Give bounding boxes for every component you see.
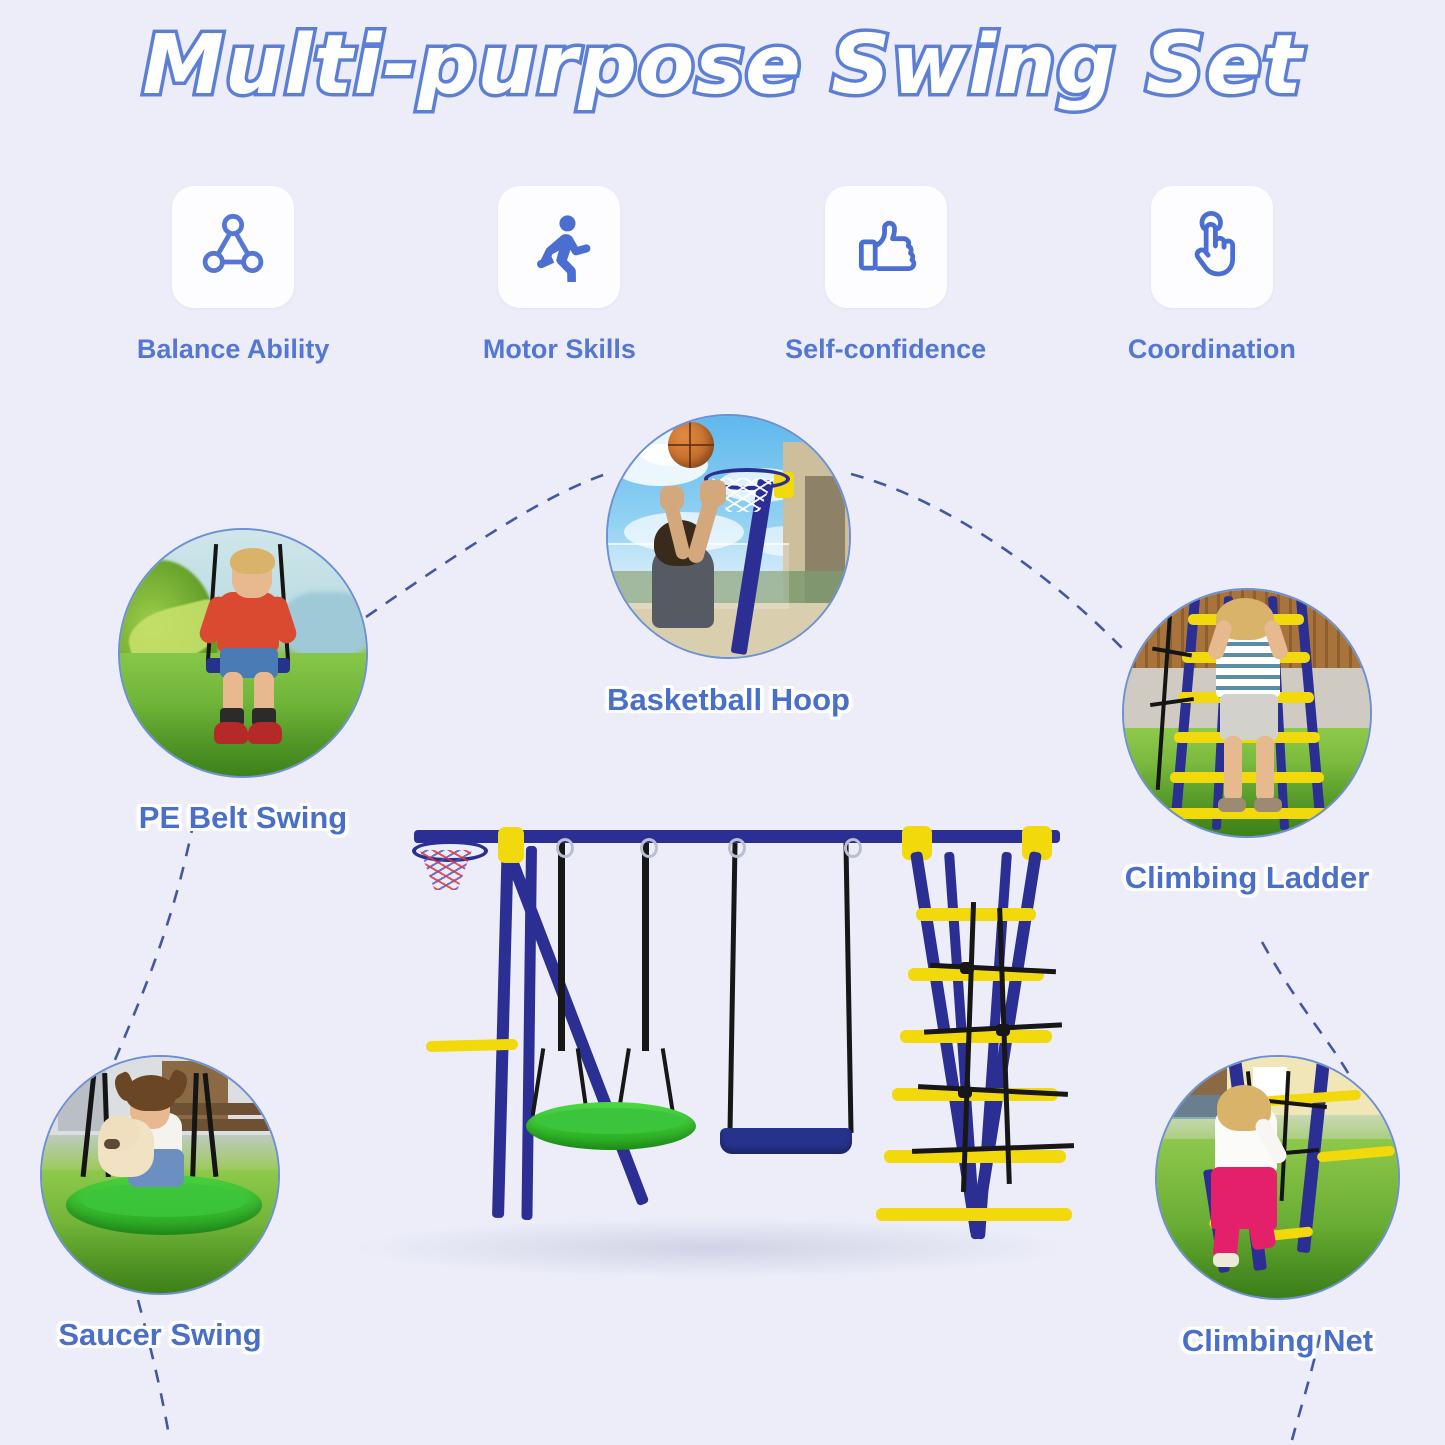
- net-knot: [960, 962, 974, 974]
- callout-image: [118, 528, 368, 778]
- benefit-label: Coordination: [1128, 334, 1296, 365]
- infographic-root: Multi-purpose Swing Set Balance Ability: [0, 0, 1445, 1445]
- saucer-swing-inner: [538, 1108, 684, 1134]
- thumbs-up-icon: [849, 208, 923, 287]
- benefits-row: Balance Ability Motor Skills: [0, 186, 1445, 365]
- callout-label: Climbing Ladder: [1125, 860, 1370, 896]
- beam-ring: [844, 838, 862, 858]
- ladder-rung: [876, 1208, 1072, 1221]
- callout-label: PE Belt Swing: [139, 800, 347, 836]
- tapping-hand-icon: [1175, 208, 1249, 287]
- callout-image: [1122, 588, 1372, 838]
- benefit-icon-card: [1151, 186, 1273, 308]
- scene-boy-climbing-ladder: [1124, 590, 1370, 836]
- saucer-rope-right-v: [617, 1048, 631, 1110]
- left-leg-back: [498, 838, 649, 1206]
- basketball-hoop-net: [420, 850, 472, 890]
- benefit-coordination: Coordination: [1097, 186, 1327, 365]
- left-top-connector: [498, 827, 524, 863]
- callout-label: Saucer Swing: [58, 1317, 261, 1353]
- benefit-label: Motor Skills: [483, 334, 636, 365]
- benefit-icon-card: [172, 186, 294, 308]
- benefit-self-confidence: Self-confidence: [771, 186, 1001, 365]
- page-title: Multi-purpose Swing Set: [0, 18, 1445, 113]
- benefit-motor-skills: Motor Skills: [444, 186, 674, 365]
- running-person-icon: [522, 208, 596, 287]
- ladder-rung: [916, 908, 1036, 921]
- product-swing-set-image: [330, 810, 1100, 1290]
- callout-image: [606, 414, 851, 659]
- callout-basketball-hoop[interactable]: Basketball Hoop: [606, 414, 851, 659]
- saucer-rope-right: [642, 843, 649, 1051]
- belt-rope-right: [843, 843, 853, 1133]
- benefit-icon-card: [498, 186, 620, 308]
- saucer-rope-right-v2: [661, 1048, 676, 1116]
- callout-image: [40, 1055, 280, 1295]
- benefit-icon-card: [825, 186, 947, 308]
- scene-boy-on-belt-swing: [120, 530, 366, 776]
- saucer-rope-left: [558, 843, 565, 1051]
- benefit-label: Self-confidence: [785, 334, 986, 365]
- belt-rope-left: [727, 843, 737, 1133]
- balance-network-icon: [196, 208, 270, 287]
- callout-label: Basketball Hoop: [607, 682, 850, 718]
- callout-label: Climbing Net: [1182, 1323, 1373, 1359]
- callout-saucer-swing[interactable]: Saucer Swing: [40, 1055, 280, 1295]
- callout-pe-belt-swing[interactable]: PE Belt Swing: [118, 528, 368, 778]
- scene-girl-climbing-net: [1157, 1057, 1398, 1298]
- net-knot: [996, 1024, 1010, 1036]
- callout-image: [1155, 1055, 1400, 1300]
- callout-climbing-ladder[interactable]: Climbing Ladder: [1122, 588, 1372, 838]
- benefit-balance-ability: Balance Ability: [118, 186, 348, 365]
- beam-ring: [556, 838, 574, 858]
- net-knot: [958, 1086, 972, 1098]
- belt-swing-seat: [720, 1128, 852, 1154]
- benefit-label: Balance Ability: [137, 334, 330, 365]
- beam-ring: [728, 838, 746, 858]
- left-leg-front: [492, 836, 514, 1218]
- ladder-rung: [900, 1030, 1052, 1043]
- scene-basketball-shot: [608, 416, 849, 657]
- callout-climbing-net[interactable]: Climbing Net: [1155, 1055, 1400, 1300]
- scene-girl-with-puppy-on-saucer: [42, 1057, 278, 1293]
- beam-ring: [640, 838, 658, 858]
